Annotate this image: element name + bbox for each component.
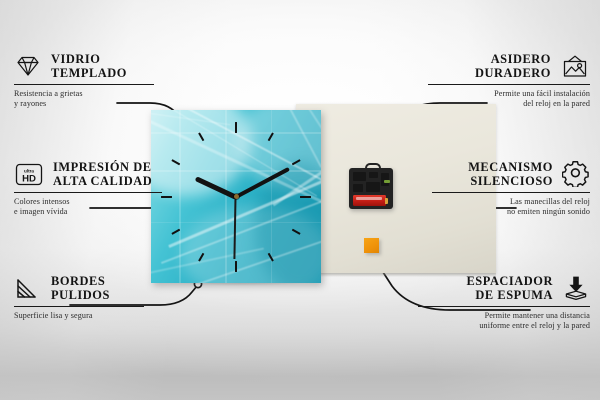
feature-block-espaciador-espuma: ESPACIADOR DE ESPUMA Permite mantener un…: [418, 274, 590, 331]
picture-hanger-icon: [560, 54, 590, 79]
ultra-hd-icon: ultra HD: [14, 162, 44, 187]
clock-mechanism: [349, 168, 393, 209]
feature-title: VIDRIO TEMPLADO: [51, 52, 127, 81]
glass-clock-panel: [151, 110, 321, 283]
feature-block-mecanismo-silencioso: MECANISMO SILENCIOSO Las manecillas del …: [432, 160, 590, 217]
feature-title: ASIDERO DURADERO: [475, 52, 551, 81]
feature-block-bordes-pulidos: BORDES PULIDOS Superficie lisa y segura: [14, 274, 144, 321]
feature-description: Permite una fácil instalación del reloj …: [428, 89, 590, 109]
gear-icon: [562, 161, 590, 187]
foam-spacer-piece: [364, 238, 379, 253]
feature-title: BORDES PULIDOS: [51, 274, 110, 303]
feature-description: Las manecillas del reloj no emiten ningú…: [432, 197, 590, 217]
polished-edges-icon: [14, 276, 42, 300]
feature-description: Colores intensos e imagen vívida: [14, 197, 162, 217]
foam-spacer-icon: [562, 275, 590, 301]
infographic-canvas: VIDRIO TEMPLADO Resistencia a grietas y …: [0, 0, 600, 400]
feature-divider: [428, 84, 590, 85]
feature-title: IMPRESIÓN DE ALTA CALIDAD: [53, 160, 152, 189]
mechanism-indicator: [384, 180, 390, 183]
clock-center-hub: [234, 194, 239, 199]
diamond-icon: [14, 54, 42, 78]
feature-title: ESPACIADOR DE ESPUMA: [466, 274, 553, 303]
feature-description: Superficie lisa y segura: [14, 311, 144, 321]
mechanism-battery: [353, 195, 386, 206]
feature-divider: [14, 84, 154, 85]
feature-divider: [432, 192, 590, 193]
feature-description: Resistencia a grietas y rayones: [14, 89, 154, 109]
mechanism-body: [349, 168, 393, 209]
svg-text:ultra: ultra: [24, 168, 34, 173]
feature-description: Permite mantener una distancia uniforme …: [418, 311, 590, 331]
feature-block-impresion-alta-calidad: ultra HD IMPRESIÓN DE ALTA CALIDAD Color…: [14, 160, 162, 217]
feature-title: MECANISMO SILENCIOSO: [468, 160, 553, 189]
feature-divider: [14, 192, 162, 193]
feature-divider: [418, 306, 590, 307]
feature-block-vidrio-templado: VIDRIO TEMPLADO Resistencia a grietas y …: [14, 52, 154, 109]
feature-divider: [14, 306, 144, 307]
svg-text:HD: HD: [22, 174, 36, 185]
feature-block-asidero-duradero: ASIDERO DURADERO Permite una fácil insta…: [428, 52, 590, 109]
